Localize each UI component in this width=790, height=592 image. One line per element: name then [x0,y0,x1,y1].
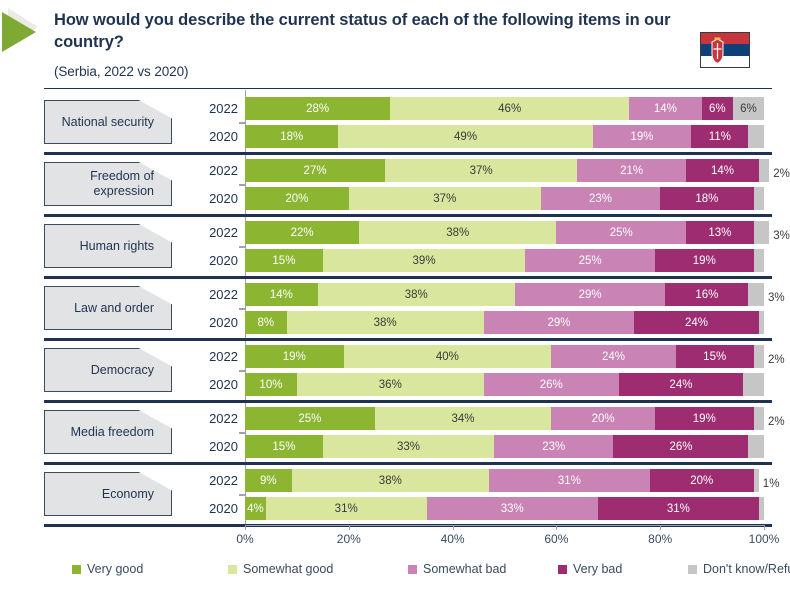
axis-minor-tick [239,309,245,310]
bar-row: 27%37%21%14%2% [245,159,764,182]
axis-minor-tick [239,433,245,434]
bar-segment-very-good[interactable]: 20% [245,187,349,210]
chart-group: Economy20229%38%31%20%1%20204%31%33%31% [0,466,790,528]
legend-item-very-bad[interactable]: Very bad [558,562,622,576]
bar-segment-very-bad[interactable]: 31% [598,497,759,520]
x-axis-tick [349,525,350,530]
bar-segment-somewhat-good[interactable]: 49% [338,125,592,148]
bar-segment-somewhat-bad[interactable]: 21% [577,159,686,182]
bar-row: 4%31%33%31% [245,497,764,520]
x-axis-tick-label: 100% [749,532,780,546]
x-axis-tick-label: 0% [236,532,253,546]
bar-row: 10%36%26%24% [245,373,764,396]
year-label: 2020 [186,315,238,330]
year-label: 2022 [186,225,238,240]
bar-segment-very-bad[interactable]: 26% [613,435,748,458]
group-divider [44,152,772,155]
bar-segment-dont-know[interactable] [759,159,769,182]
legend-label: Don't know/Refused to answer [703,562,790,576]
bar-segment-somewhat-good[interactable]: 31% [266,497,427,520]
year-label: 2020 [186,439,238,454]
category-label: National security [44,100,162,144]
bar-segment-dont-know[interactable] [754,345,764,368]
bar-segment-dont-know[interactable] [754,249,764,272]
legend-item-somewhat-bad[interactable]: Somewhat bad [408,562,506,576]
header: How would you describe the current statu… [0,0,790,88]
bar-segment-label-outside: 2% [769,162,790,185]
year-label: 2020 [186,191,238,206]
bar-row: 8%38%29%24% [245,311,764,334]
bar-segment-somewhat-good[interactable]: 38% [359,221,556,244]
bar-segment-very-good[interactable]: 18% [245,125,338,148]
year-label: 2020 [186,253,238,268]
bar-segment-very-bad[interactable]: 13% [686,221,753,244]
bar-row: 9%38%31%20%1% [245,469,764,492]
bar-segment-very-bad[interactable]: 11% [691,125,748,148]
x-axis-tick [245,525,246,530]
bar-segment-very-bad[interactable]: 14% [686,159,759,182]
bar-segment-dont-know[interactable]: 6% [733,97,764,120]
chart-group: Law and order202214%38%29%16%3%20208%38%… [0,280,790,342]
year-label: 2020 [186,129,238,144]
bar-segment-very-good[interactable]: 10% [245,373,297,396]
chart-group: Democracy202219%40%24%15%2%202010%36%26%… [0,342,790,404]
flag-stripe-white [701,56,749,67]
flag-stripe-blue [701,44,749,55]
group-divider [44,400,772,403]
bar-segment-somewhat-bad[interactable]: 24% [551,345,676,368]
bar-segment-dont-know[interactable] [748,125,764,148]
bar-segment-very-bad[interactable]: 18% [660,187,753,210]
legend-label: Somewhat good [243,562,333,576]
bar-segment-very-bad[interactable]: 15% [676,345,754,368]
year-label: 2022 [186,473,238,488]
bar-segment-very-good[interactable]: 14% [245,283,318,306]
group-divider-top [44,88,772,89]
bar-segment-somewhat-bad[interactable]: 33% [427,497,598,520]
bar-segment-somewhat-good[interactable]: 34% [375,407,551,430]
bar-row: 15%33%23%26% [245,435,764,458]
bar-row: 15%39%25%19% [245,249,764,272]
x-axis-tick-label: 40% [441,532,465,546]
category-label: Media freedom [44,410,162,454]
bar-segment-label-outside: 2% [764,348,785,371]
x-axis-tick-label: 20% [337,532,361,546]
green-triangle-logo-icon [2,12,36,52]
bar-segment-dont-know[interactable] [754,407,764,430]
bar-segment-very-bad[interactable]: 16% [665,283,748,306]
bar-segment-somewhat-good[interactable]: 36% [297,373,484,396]
category-label: Democracy [44,348,162,392]
bar-segment-somewhat-bad[interactable]: 29% [515,283,666,306]
bar-segment-very-good[interactable]: 15% [245,435,323,458]
page-title: How would you describe the current statu… [54,10,674,54]
bar-segment-very-good[interactable]: 19% [245,345,344,368]
category-label: Human rights [44,224,162,268]
chart-group: Freedom of expression202227%37%21%14%2%2… [0,156,790,218]
bar-segment-very-good[interactable]: 9% [245,469,292,492]
bar-segment-somewhat-bad[interactable]: 23% [494,435,613,458]
bar-segment-somewhat-bad[interactable]: 14% [629,97,702,120]
bar-segment-somewhat-good[interactable]: 39% [323,249,525,272]
bar-segment-somewhat-good[interactable]: 37% [349,187,541,210]
bar-row: 22%38%25%13%3% [245,221,764,244]
flag-coat-of-arms-icon [710,37,725,65]
axis-minor-tick [239,371,245,372]
bar-segment-very-bad[interactable]: 6% [702,97,733,120]
stacked-bar-chart: National security202228%46%14%6%6%202018… [0,88,790,548]
bar-segment-somewhat-bad[interactable]: 23% [541,187,660,210]
bar-segment-somewhat-bad[interactable]: 29% [484,311,635,334]
legend-item-very-good[interactable]: Very good [72,562,143,576]
legend-label: Somewhat bad [423,562,506,576]
group-divider [44,276,772,279]
x-axis-tick [556,525,557,530]
bar-segment-very-good[interactable]: 27% [245,159,385,182]
year-label: 2020 [186,377,238,392]
x-axis-tick [764,525,765,530]
group-divider [44,338,772,341]
bar-segment-somewhat-bad[interactable]: 31% [489,469,650,492]
category-label: Economy [44,472,162,516]
bar-segment-label-outside: 1% [759,472,780,495]
bar-segment-somewhat-bad[interactable]: 19% [593,125,692,148]
bar-segment-somewhat-good[interactable]: 40% [344,345,552,368]
year-label: 2022 [186,287,238,302]
bar-segment-somewhat-good[interactable]: 38% [318,283,515,306]
legend-swatch-dont-know [688,565,697,574]
bar-segment-dont-know[interactable] [754,469,759,492]
bar-segment-somewhat-bad[interactable]: 26% [484,373,619,396]
bar-segment-somewhat-good[interactable]: 38% [287,311,484,334]
chart-group: National security202228%46%14%6%6%202018… [0,94,790,156]
x-axis-line [245,525,764,526]
bar-segment-dont-know[interactable] [748,435,764,458]
bar-segment-dont-know[interactable] [743,373,764,396]
legend-item-dont-know[interactable]: Don't know/Refused to answer [688,562,790,576]
bar-segment-somewhat-bad[interactable]: 25% [556,221,686,244]
x-axis-tick-label: 60% [544,532,568,546]
bar-segment-very-good[interactable]: 8% [245,311,287,334]
bar-segment-dont-know[interactable] [754,221,770,244]
bar-segment-label-outside: 2% [764,410,785,433]
bar-row: 20%37%23%18% [245,187,764,210]
group-divider [44,214,772,217]
bar-segment-dont-know[interactable] [759,311,764,334]
x-axis-tick-label: 80% [648,532,672,546]
bar-segment-somewhat-good[interactable]: 33% [323,435,494,458]
year-label: 2022 [186,101,238,116]
legend-label: Very good [87,562,143,576]
bar-segment-somewhat-good[interactable]: 37% [385,159,577,182]
bar-segment-somewhat-bad[interactable]: 25% [525,249,655,272]
bar-segment-very-bad[interactable]: 24% [634,311,759,334]
bar-segment-very-good[interactable]: 15% [245,249,323,272]
bar-segment-very-bad[interactable]: 24% [619,373,744,396]
year-label: 2022 [186,411,238,426]
category-label: Freedom of expression [44,162,162,206]
bar-segment-somewhat-good[interactable]: 46% [390,97,629,120]
x-axis-tick [660,525,661,530]
legend-swatch-very-bad [558,565,567,574]
page-subtitle: (Serbia, 2022 vs 2020) [54,64,188,79]
legend-item-somewhat-good[interactable]: Somewhat good [228,562,333,576]
bar-segment-dont-know[interactable] [754,187,764,210]
chart-group: Human rights202222%38%25%13%3%202015%39%… [0,218,790,280]
category-label: Law and order [44,286,162,330]
bar-segment-very-bad[interactable]: 19% [655,249,754,272]
legend-swatch-somewhat-good [228,565,237,574]
x-axis-tick [453,525,454,530]
flag-stripe-red [701,33,749,44]
serbia-flag-icon [700,32,750,68]
bar-row: 19%40%24%15%2% [245,345,764,368]
bar-segment-very-good[interactable]: 28% [245,97,390,120]
bar-row: 14%38%29%16%3% [245,283,764,306]
axis-minor-tick [239,247,245,248]
group-divider [44,462,772,465]
year-label: 2020 [186,501,238,516]
axis-minor-tick [239,185,245,186]
bar-segment-somewhat-good[interactable]: 38% [292,469,489,492]
bar-segment-label-outside: 3% [769,224,790,247]
bar-segment-dont-know[interactable] [759,497,764,520]
axis-minor-tick [239,123,245,124]
axis-minor-tick [239,495,245,496]
bar-row: 25%34%20%19%2% [245,407,764,430]
chart-legend: Very goodSomewhat goodSomewhat badVery b… [0,562,790,588]
bar-segment-very-good[interactable]: 4% [245,497,266,520]
legend-swatch-somewhat-bad [408,565,417,574]
bar-segment-somewhat-bad[interactable]: 20% [551,407,655,430]
bar-segment-very-good[interactable]: 22% [245,221,359,244]
year-label: 2022 [186,163,238,178]
bar-segment-very-bad[interactable]: 19% [655,407,754,430]
bar-row: 18%49%19%11% [245,125,764,148]
bar-segment-very-bad[interactable]: 20% [650,469,754,492]
legend-swatch-very-good [72,565,81,574]
bar-segment-dont-know[interactable] [748,283,764,306]
bar-segment-very-good[interactable]: 25% [245,407,375,430]
chart-group: Media freedom202225%34%20%19%2%202015%33… [0,404,790,466]
bar-segment-label-outside: 3% [764,286,785,309]
year-label: 2022 [186,349,238,364]
legend-label: Very bad [573,562,622,576]
bar-row: 28%46%14%6%6% [245,97,764,120]
